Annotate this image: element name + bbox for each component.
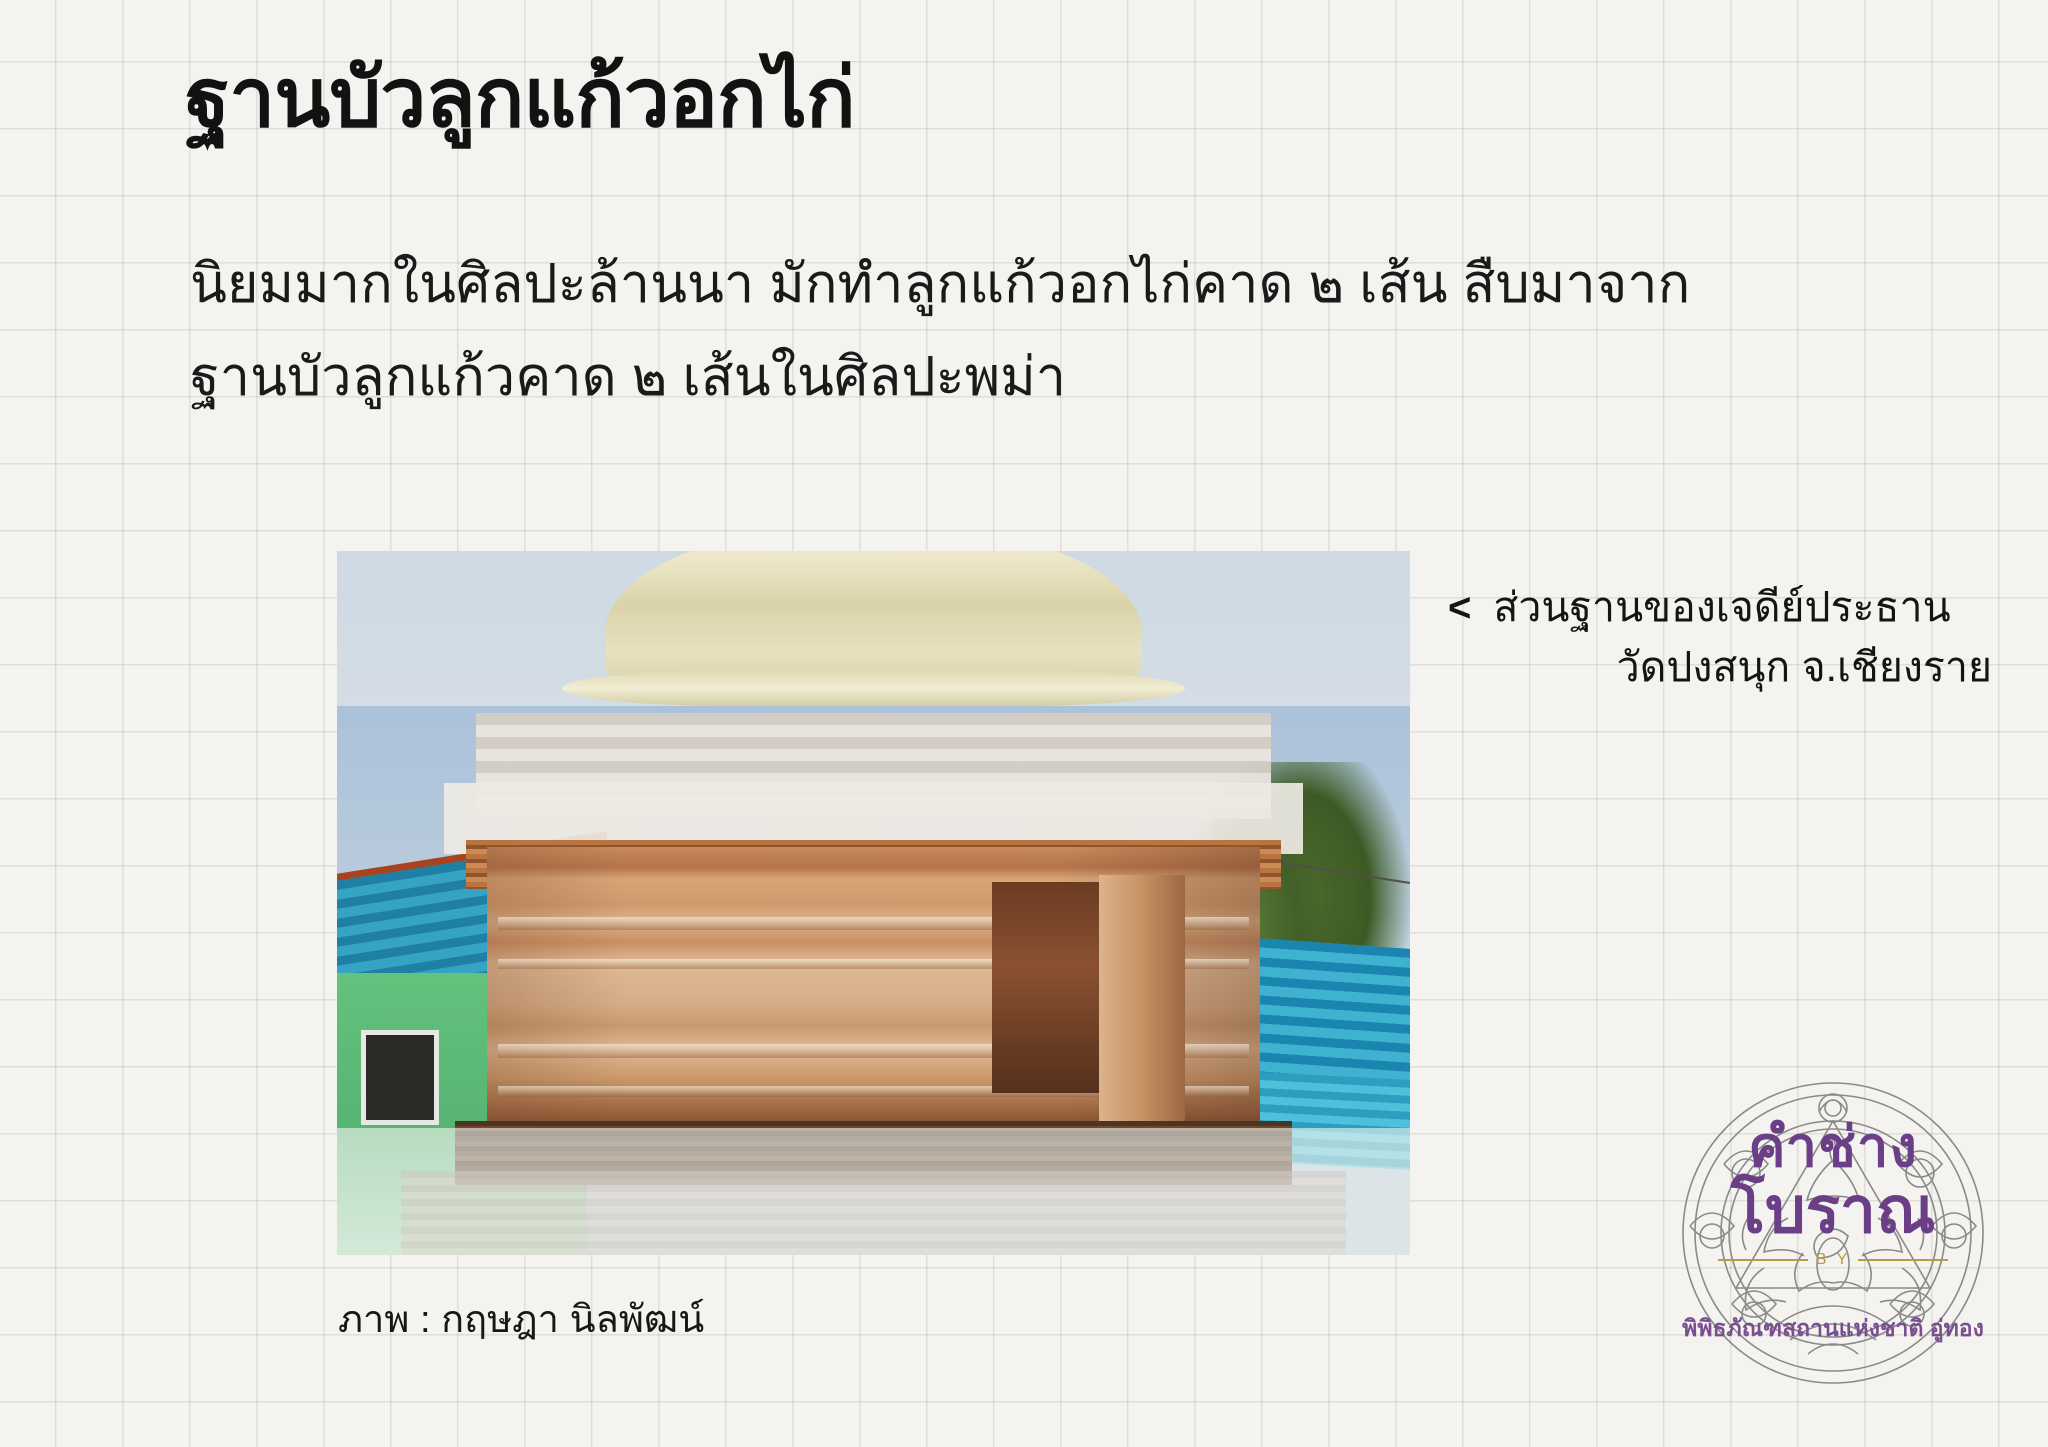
kham-chang-boran-logo: คำช่าง โบราณ B Y พิพิธภัณฑสถานแห่งชาติ อ… bbox=[1668, 1068, 1998, 1398]
photo-scene bbox=[337, 551, 1410, 1255]
body-paragraph: นิยมมากในศิลปะล้านนา มักทำลูกแก้วอกไก่คา… bbox=[190, 238, 1870, 424]
page-title: ฐานบัวลูกแก้วอกไก่ bbox=[185, 52, 855, 146]
caption-line-1-row: < ส่วนฐานของเจดีย์ประธาน bbox=[1448, 578, 2018, 638]
caption-line-2: วัดปงสนุก จ.เชียงราย bbox=[1448, 638, 2018, 697]
logo-thai-medallion-icon bbox=[1668, 1068, 1998, 1398]
corner-pilaster bbox=[1099, 875, 1185, 1128]
body-line-1: นิยมมากในศิลปะล้านนา มักทำลูกแก้วอกไก่คา… bbox=[190, 238, 1870, 331]
caption-line-1: ส่วนฐานของเจดีย์ประธาน bbox=[1493, 578, 1950, 637]
window-left-building bbox=[361, 1030, 439, 1125]
photo-bottom-fade-overlay bbox=[337, 1128, 1410, 1255]
photo-caption: < ส่วนฐานของเจดีย์ประธาน วัดปงสนุก จ.เชี… bbox=[1448, 578, 2018, 697]
chedi-base-photograph bbox=[337, 551, 1410, 1255]
body-line-2: ฐานบัวลูกแก้วคาด ๒ เส้นในศิลปะพม่า bbox=[190, 331, 1870, 424]
photo-top-fade-overlay bbox=[337, 551, 1410, 706]
left-pointer-icon: < bbox=[1448, 580, 1471, 638]
photo-credit: ภาพ : กฤษฎา นิลพัฒน์ bbox=[338, 1288, 704, 1349]
